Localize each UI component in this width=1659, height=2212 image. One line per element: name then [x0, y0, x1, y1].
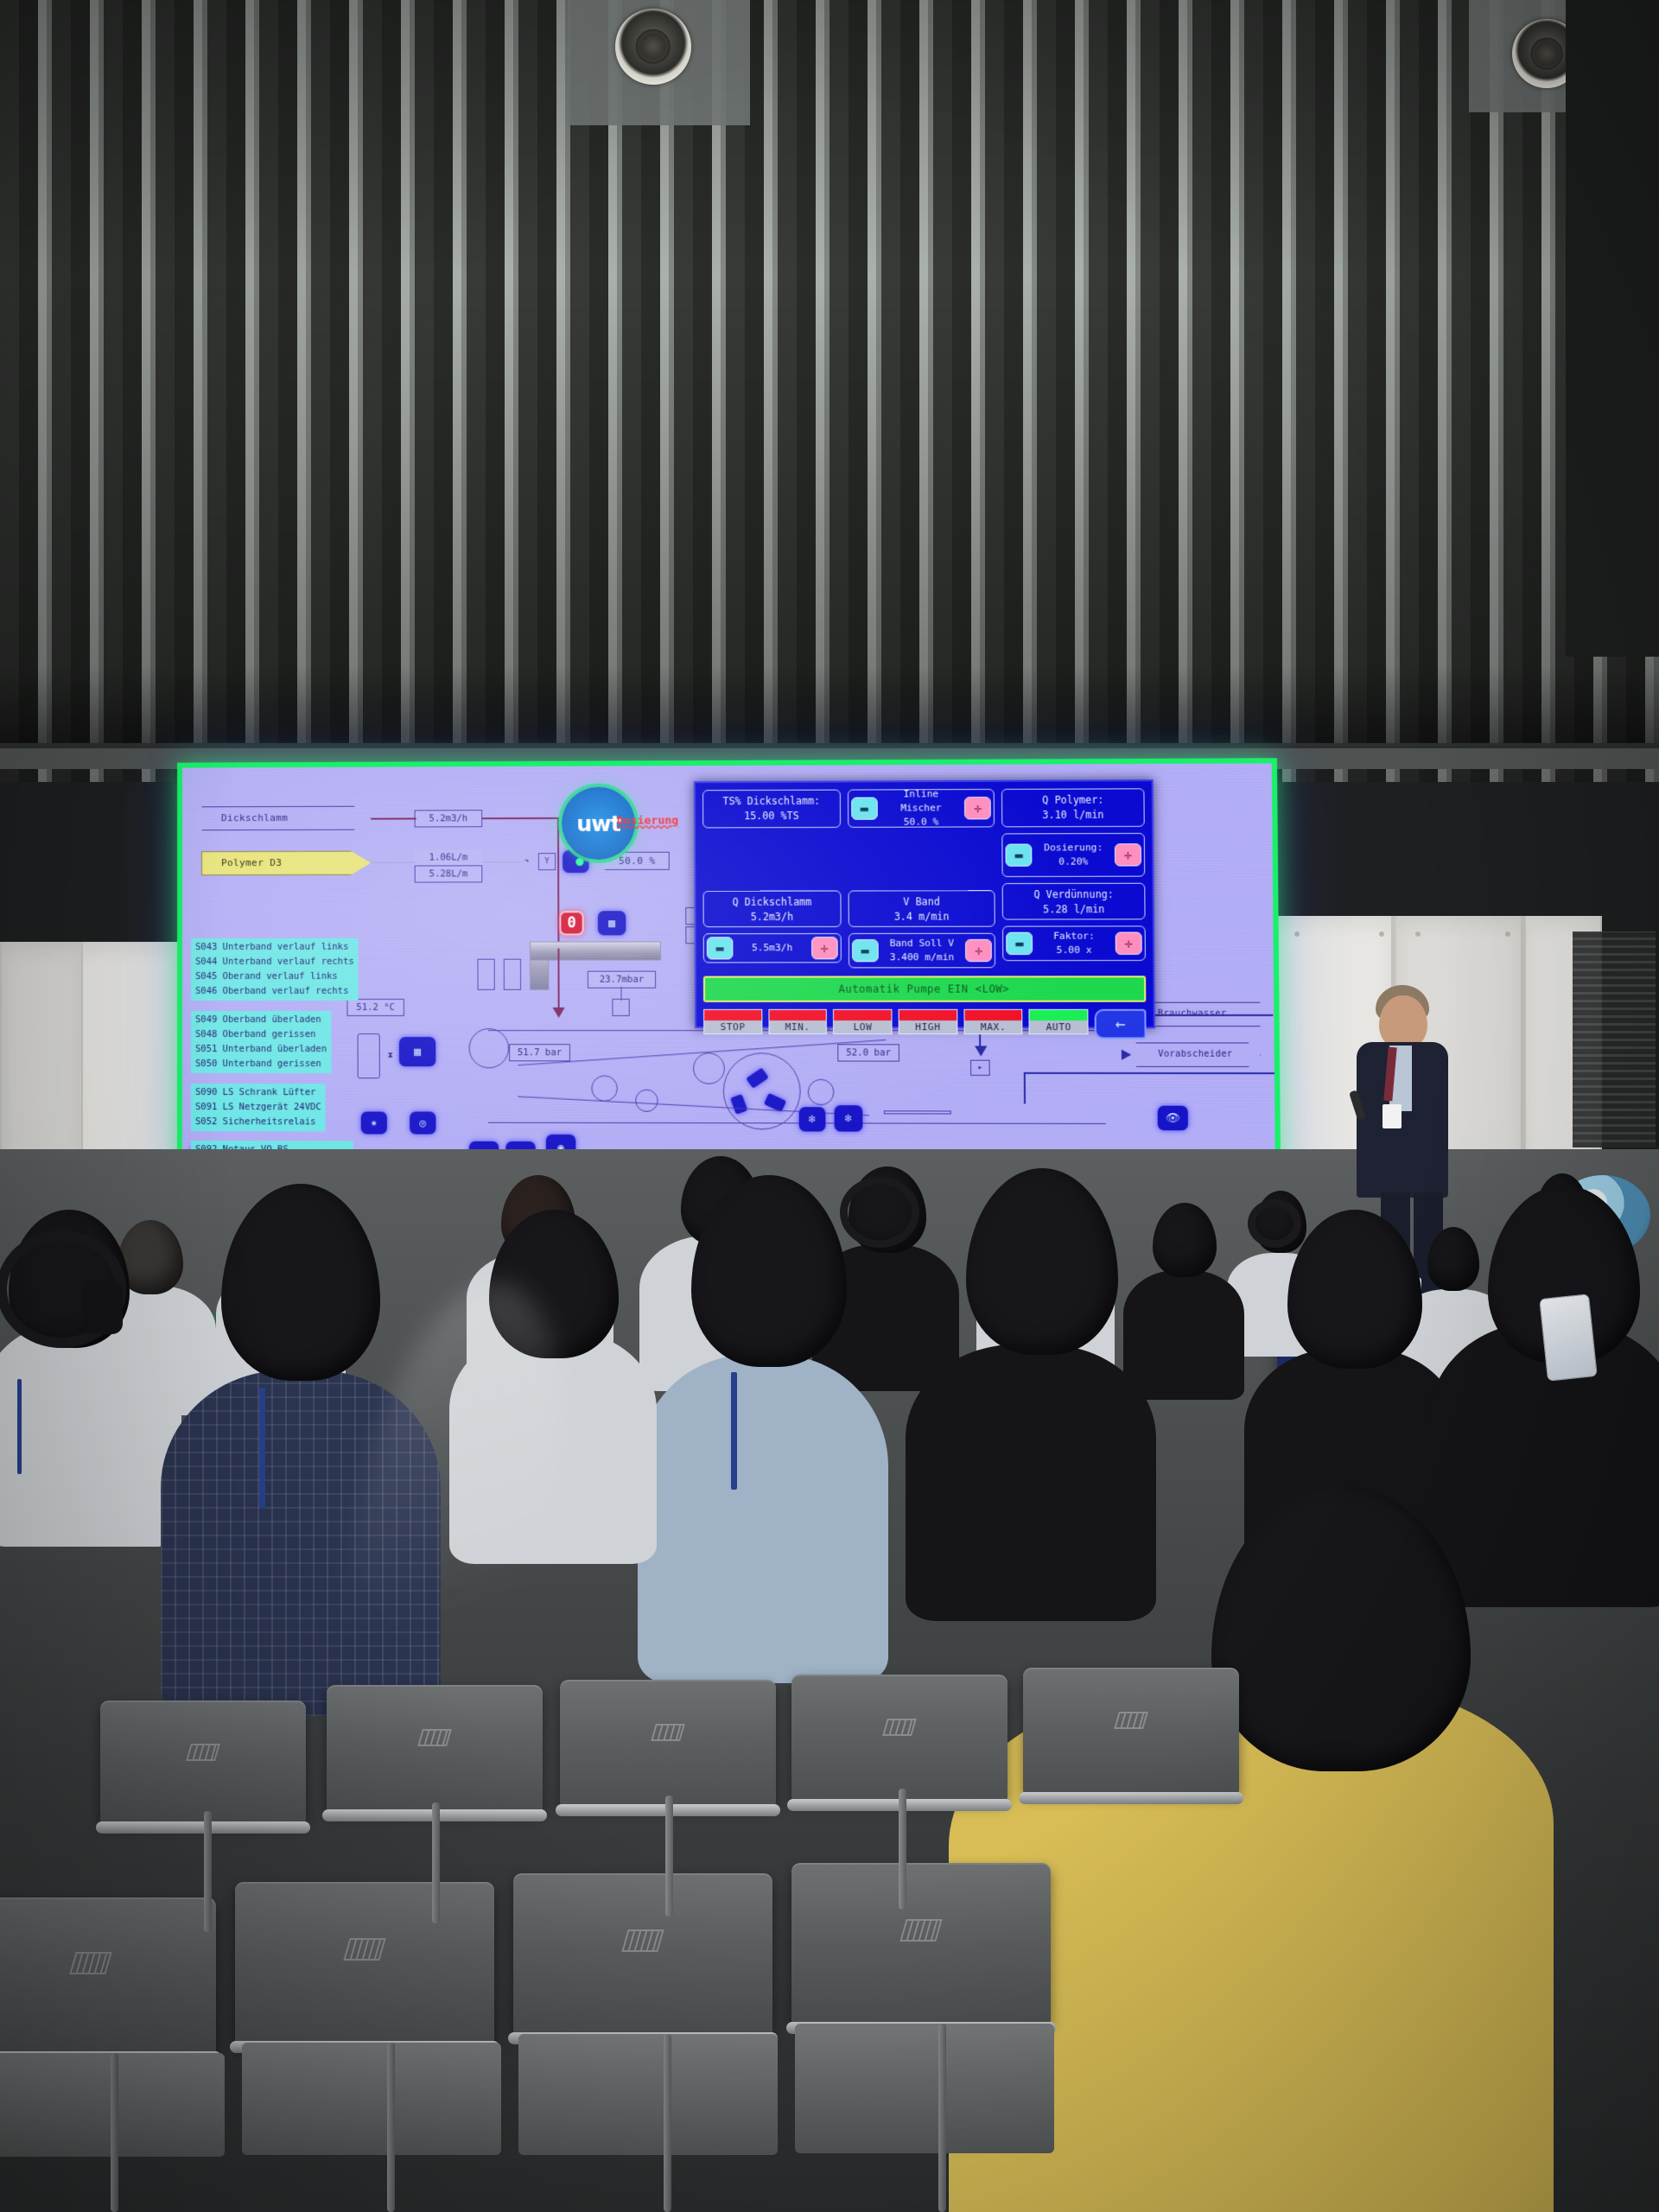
- chair-emblem-icon: [1114, 1712, 1148, 1729]
- attendee-body: [638, 1355, 888, 1683]
- press-drum-large: [723, 1052, 801, 1129]
- hmi-mode-button-row: STOP MIN. LOW HIGH MAX.: [703, 1009, 1147, 1039]
- press-roller-e: [635, 1090, 658, 1112]
- chair-leg: [664, 2034, 671, 2212]
- lanyard: [17, 1379, 22, 1474]
- alarm-item: S048 Oberband gerissen: [195, 1027, 327, 1042]
- chair-leg: [938, 2024, 946, 2212]
- ctl-band-soll-v-value: 3.400 m/min: [890, 951, 955, 963]
- tile-q-verduennung-label: Q Verdünnung:: [1005, 887, 1142, 903]
- ctl-inline-mischer-text: Inline Mischer 50.0 %: [881, 787, 962, 829]
- lamp-indicator: [834, 1010, 891, 1020]
- lamp-indicator: [899, 1010, 957, 1020]
- ctl-dosierung[interactable]: ▬ Dosierung: 0.20% ✛: [1002, 833, 1146, 877]
- mode-button-max-label: MAX.: [964, 1020, 1022, 1033]
- plus-icon[interactable]: ✛: [964, 797, 991, 819]
- lamp-indicator: [1030, 1010, 1088, 1020]
- tile-q-verduennung-value: 5.28 l/min: [1005, 902, 1142, 918]
- ctl-dosierung-label: Dosierung:: [1044, 842, 1103, 853]
- chair-leg: [204, 1811, 212, 1932]
- press-roller-a: [469, 1028, 510, 1068]
- chair[interactable]: [235, 1882, 494, 2043]
- water-line-2-down: [1024, 1072, 1026, 1104]
- wall-screw-3: [1415, 931, 1421, 937]
- hopper-2: [504, 959, 521, 990]
- chair[interactable]: [791, 1675, 1007, 1801]
- ctl-dosierung-value: 0.20%: [1058, 855, 1088, 867]
- tile-q-polymer: Q Polymer: 3.10 l/min: [1001, 788, 1144, 827]
- chair-leg: [665, 1796, 673, 1916]
- headphones: [1248, 1199, 1301, 1248]
- pipe-sludge-main-2: [482, 817, 559, 819]
- pipe-sludge-main: [371, 817, 416, 819]
- minus-icon[interactable]: ▬: [851, 798, 878, 820]
- input-dickschlamm: Dickschlamm: [201, 806, 371, 831]
- mode-button-stop-label: STOP: [704, 1020, 761, 1033]
- mode-button-auto[interactable]: AUTO: [1029, 1009, 1089, 1034]
- alarm-item: S049 Oberband überladen: [195, 1013, 327, 1027]
- chair-emblem-icon: [69, 1952, 111, 1974]
- alarm-item: S043 Unterband verlauf links: [195, 940, 354, 955]
- pump-icon[interactable]: ▩: [598, 911, 626, 935]
- ceiling-recess: [1566, 0, 1659, 657]
- attendee-body: [1429, 1322, 1659, 1607]
- readout-belt-pressure-left: 51.7 bar: [509, 1044, 570, 1061]
- chair-emblem-icon: [186, 1744, 220, 1761]
- tile-q-dickschlamm-label: Q Dickschlamm: [706, 895, 839, 911]
- tile-v-band-label: V Band: [850, 894, 992, 910]
- alarm-group-electrical: S090 LS Schrank Lüfter S091 LS Netzgerät…: [191, 1084, 326, 1131]
- alarm-item: S050 Unterband gerissen: [195, 1057, 327, 1071]
- ctl-band-soll-v-label: Band Soll V: [890, 938, 955, 949]
- press-roller-d: [591, 1075, 618, 1101]
- water-outlet-box: ▸: [970, 1060, 990, 1076]
- mode-button-low-label: LOW: [834, 1020, 891, 1033]
- chair-emblem-icon: [417, 1729, 452, 1746]
- plus-icon[interactable]: ✛: [1115, 843, 1141, 866]
- pipe-polymer: [371, 862, 416, 864]
- counter-value: 0: [567, 914, 575, 931]
- drive-coupling: ⧗: [385, 1046, 396, 1066]
- tile-q-verduennung: Q Verdünnung: 5.28 l/min: [1002, 883, 1146, 920]
- dark-vent-panel: [1573, 931, 1656, 1147]
- chair-emblem-icon: [651, 1724, 685, 1741]
- minus-icon[interactable]: ▬: [1006, 932, 1033, 955]
- alarm-item: S090 LS Schrank Lüfter: [195, 1085, 321, 1100]
- ctl-band-soll-v-text: Band Soll V 3.400 m/min: [882, 937, 963, 964]
- ctl-faktor-label: Faktor:: [1053, 931, 1095, 942]
- presenter-head: [1379, 995, 1427, 1049]
- chair-emblem-icon: [899, 1919, 942, 1942]
- ctl-band-soll-v[interactable]: ▬ Band Soll V 3.400 m/min ✛: [849, 933, 996, 969]
- seat-cushion: [242, 2043, 501, 2155]
- tile-ts-dickschlamm: TS% Dickschlamm: 15.00 %TS: [702, 790, 841, 829]
- seat-cushion: [518, 2034, 778, 2155]
- flow-sensor-fitting: ↷: [519, 855, 535, 868]
- drive-motor-icon[interactable]: ▦: [399, 1037, 435, 1066]
- ctl-faktor-value: 5.00 x: [1057, 944, 1092, 956]
- ctl-faktor-text: Faktor: 5.00 x: [1036, 930, 1111, 957]
- mode-button-min[interactable]: MIN.: [768, 1009, 827, 1034]
- minus-icon[interactable]: ▬: [1006, 843, 1033, 866]
- gap-sensor-box: [612, 999, 629, 1016]
- attendee-body: [1123, 1270, 1244, 1400]
- plus-icon[interactable]: ✛: [1116, 931, 1142, 954]
- alarm-item: S045 Oberand verlauf links: [195, 969, 354, 984]
- mode-button-high[interactable]: HIGH: [899, 1009, 958, 1034]
- hmi-status-bar: Automatik Pumpe EIN <LOW>: [703, 976, 1146, 1002]
- back-arrow-icon[interactable]: ←: [1095, 1009, 1147, 1039]
- press-roller-c: [693, 1052, 725, 1084]
- lamp-indicator: [769, 1010, 826, 1020]
- headphones: [840, 1177, 919, 1248]
- alarm-group-belt-tracking: S043 Unterband verlauf links S044 Unterb…: [191, 938, 359, 1001]
- mode-button-auto-label: AUTO: [1030, 1020, 1088, 1033]
- hmi-status-text: Automatik Pumpe EIN <LOW>: [838, 982, 1009, 995]
- plus-icon[interactable]: ✛: [965, 939, 992, 962]
- uwt-overlay-note: Dosierung: [617, 814, 678, 827]
- readout-q-dickschlamm-flow: 5.2m3/h: [415, 810, 483, 828]
- readout-belt-pressure-right: 52.0 bar: [837, 1044, 899, 1062]
- chair-leg: [111, 2053, 118, 2212]
- wall-upper-shadow: [0, 665, 1659, 748]
- seat-cushion: [795, 2024, 1054, 2153]
- chair-emblem-icon: [343, 1938, 385, 1961]
- lamp-indicator: [964, 1010, 1021, 1020]
- water-arrow-down: [975, 1046, 987, 1056]
- attendee-body: [0, 1322, 181, 1547]
- mode-button-min-label: MIN.: [769, 1020, 826, 1033]
- mode-button-high-label: HIGH: [899, 1020, 957, 1033]
- ctl-q-dickschlamm-set-value: 5.5m3/h: [736, 941, 807, 955]
- input-dickschlamm-label: Dickschlamm: [221, 806, 288, 830]
- lamp-indicator: [704, 1010, 761, 1020]
- air-diffuser-left: [615, 9, 691, 85]
- wall-screw-4: [1505, 931, 1510, 937]
- vorabscheider-arrow: [1122, 1050, 1131, 1060]
- presenter-badge: [1382, 1104, 1402, 1128]
- hmi-control-panel[interactable]: TS% Dickschlamm: 15.00 %TS Q Dickschlamm…: [694, 779, 1155, 1028]
- chair[interactable]: [560, 1680, 776, 1806]
- output-brauchwasser-label: Brauchwasser: [1158, 1002, 1227, 1027]
- chair-leg: [432, 1802, 440, 1923]
- pipe-polymer-2: [482, 861, 520, 863]
- chair[interactable]: [513, 1873, 772, 2034]
- tile-q-polymer-label: Q Polymer:: [1004, 792, 1141, 808]
- chair-emblem-icon: [621, 1929, 664, 1952]
- hopper-1: [477, 959, 494, 990]
- alarm-item: S044 Unterband verlauf rechts: [195, 955, 354, 969]
- ctl-inline-mischer-label: Inline Mischer: [900, 788, 941, 813]
- uwt-logo-text: uwt: [576, 810, 620, 836]
- ctl-faktor[interactable]: ▬ Faktor: 5.00 x ✛: [1002, 925, 1146, 961]
- chair-rail: [96, 1821, 310, 1834]
- lanyard: [259, 1388, 265, 1509]
- input-polymer: Polymer D3: [201, 851, 371, 875]
- alarm-item: S046 Oberband verlauf rechts: [195, 984, 354, 999]
- tile-ts-dickschlamm-value: 15.00 %TS: [705, 809, 838, 824]
- attendee-body: [906, 1344, 1156, 1621]
- filtrate-pump-icon[interactable]: ❄: [835, 1105, 863, 1131]
- chair-rail: [1019, 1792, 1243, 1804]
- alarm-item: S051 Unterband überladen: [195, 1042, 327, 1057]
- minus-icon[interactable]: ▬: [852, 939, 879, 962]
- tile-q-polymer-value: 3.10 l/min: [1004, 808, 1141, 823]
- tile-v-band-value: 3.4 m/min: [851, 910, 993, 925]
- tile-q-dickschlamm-value: 5.2m3/h: [706, 910, 839, 925]
- chair-leg: [387, 2043, 395, 2212]
- chair[interactable]: [0, 1897, 216, 2053]
- ctl-dosierung-text: Dosierung: 0.20%: [1036, 841, 1111, 868]
- chair[interactable]: [327, 1685, 543, 1811]
- alarm-item: S091 LS Netzgerät 24VDC: [195, 1100, 321, 1115]
- readout-temperature: 51.2 °C: [346, 999, 404, 1016]
- tile-v-band: V Band 3.4 m/min: [848, 890, 995, 927]
- input-polymer-label: Polymer D3: [221, 851, 282, 875]
- wall-screw-2: [1379, 931, 1384, 937]
- readout-polymer-actual: 1.06L/m: [415, 849, 483, 866]
- gap-sensor-stem: [620, 987, 621, 1001]
- ctl-inline-mischer[interactable]: ▬ Inline Mischer 50.0 % ✛: [848, 789, 995, 828]
- screenshot-root: Dickschlamm Polymer D3 5.2m3/h 1.06L/m 5…: [0, 0, 1659, 2212]
- chair-emblem-icon: [882, 1719, 917, 1736]
- minus-icon[interactable]: ▬: [707, 937, 734, 959]
- water-line-2: [1024, 1072, 1275, 1074]
- pipe-to-press: [557, 949, 559, 1011]
- cooling-fan-icon[interactable]: ❄: [799, 1107, 826, 1131]
- attendee-body: [449, 1331, 657, 1564]
- valve-y: Y: [538, 853, 556, 870]
- tile-q-dickschlamm: Q Dickschlamm 5.2m3/h: [703, 891, 842, 928]
- lanyard: [731, 1372, 737, 1490]
- output-vorabscheider-label: Vorabscheider: [1158, 1042, 1233, 1067]
- belt-path-lower: [488, 1122, 1106, 1125]
- chair[interactable]: [791, 1863, 1051, 2024]
- drum-vertical: [358, 1033, 380, 1078]
- chair-leg: [899, 1789, 906, 1910]
- output-vorabscheider: Vorabscheider: [1135, 1042, 1261, 1067]
- back-arrow-glyph: ←: [1116, 1014, 1126, 1033]
- feed-arrow: [553, 1007, 565, 1018]
- mode-button-max[interactable]: MAX.: [963, 1009, 1023, 1034]
- tile-ts-dickschlamm-label: TS% Dickschlamm:: [705, 794, 838, 810]
- alarm-item: S052 Sicherheitsrelais: [195, 1115, 321, 1129]
- readout-polymer-setpoint: 5.28L/m: [415, 865, 483, 882]
- valve-icon-mid[interactable]: ◎: [410, 1111, 435, 1134]
- mode-button-low[interactable]: LOW: [833, 1009, 892, 1034]
- eye-view-icon[interactable]: 👁: [1158, 1106, 1188, 1131]
- plus-icon[interactable]: ✛: [811, 937, 838, 959]
- wall-screw-1: [1294, 931, 1300, 937]
- valve-icon-left[interactable]: ✷: [361, 1111, 387, 1134]
- gap-width-unit-label: [607, 955, 642, 957]
- counter-display: 0: [559, 911, 583, 935]
- ctl-q-dickschlamm-set[interactable]: ▬ 5.5m3/h ✛: [703, 933, 842, 963]
- headphone-earcup: [83, 1281, 123, 1334]
- mode-button-stop[interactable]: STOP: [703, 1009, 762, 1034]
- chair[interactable]: [1023, 1668, 1239, 1794]
- attendee-body: [161, 1370, 441, 1716]
- press-roller-f: [808, 1079, 835, 1105]
- readout-vacuum: [884, 1110, 951, 1114]
- ctl-inline-mischer-value: 50.0 %: [904, 816, 939, 827]
- feed-chute-horizontal: [530, 941, 661, 960]
- chair[interactable]: [100, 1700, 306, 1823]
- smartphone[interactable]: [1539, 1294, 1598, 1382]
- alarm-group-belt-overload: S049 Oberband überladen S048 Oberband ge…: [191, 1011, 331, 1073]
